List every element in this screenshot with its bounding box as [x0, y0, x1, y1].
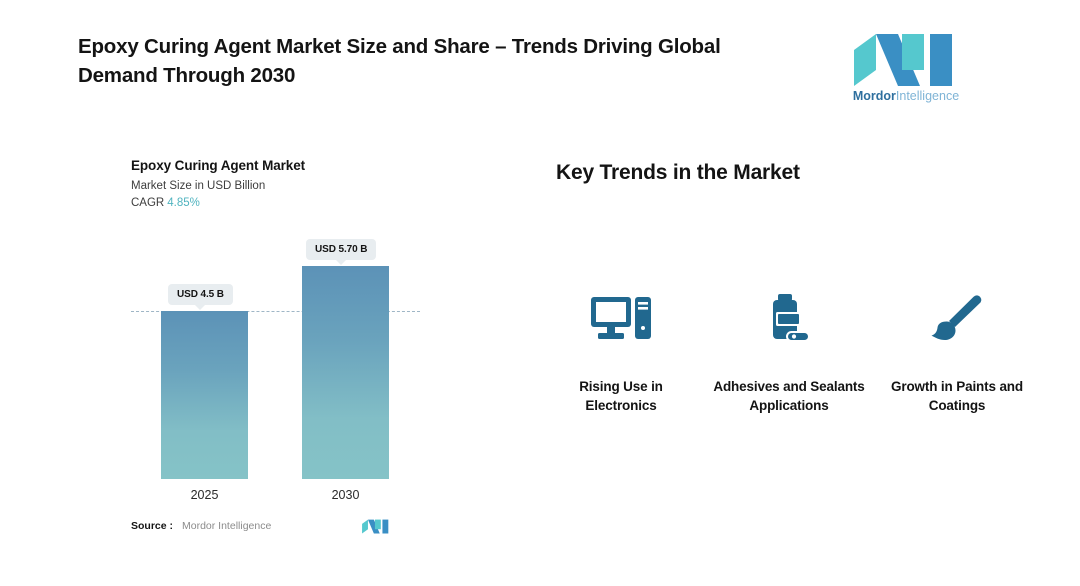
mordor-m-mark-icon [361, 516, 391, 536]
brand-name-light: Intelligence [896, 89, 959, 103]
trend-card-adhesives[interactable]: Adhesives and Sealants Applications [710, 290, 868, 415]
trend-label: Adhesives and Sealants Applications [710, 377, 868, 415]
source-label: Source : [131, 520, 173, 532]
source-row: Source : Mordor Intelligence [131, 516, 431, 540]
brand-logo: MordorIntelligence [847, 30, 965, 106]
page-title: Epoxy Curing Agent Market Size and Share… [78, 32, 778, 90]
chart-plot-area: USD 4.5 B USD 5.70 B 2025 2030 Source : … [131, 158, 431, 548]
trend-label: Growth in Paints and Coatings [878, 377, 1036, 415]
mordor-m-mark-icon [850, 30, 962, 86]
trends-heading: Key Trends in the Market [556, 161, 800, 185]
bar-2025[interactable] [161, 311, 248, 479]
trend-card-electronics[interactable]: Rising Use in Electronics [542, 290, 700, 415]
chart-panel: Epoxy Curing Agent Market Market Size in… [131, 158, 431, 548]
brand-wordmark: MordorIntelligence [847, 90, 965, 103]
brand-name-bold: Mordor [853, 89, 896, 103]
trend-card-paints[interactable]: Growth in Paints and Coatings [878, 290, 1036, 415]
trends-row: Rising Use in Electronics Adhesives and … [542, 290, 1036, 415]
adhesive-bottle-icon [764, 290, 814, 348]
trend-label: Rising Use in Electronics [542, 377, 700, 415]
desktop-computer-icon [590, 290, 652, 348]
bar-label-2030: USD 5.70 B [306, 239, 376, 260]
x-tick-2025: 2025 [161, 488, 248, 502]
paintbrush-icon [929, 290, 985, 348]
source-value: Mordor Intelligence [182, 520, 271, 532]
x-tick-2030: 2030 [302, 488, 389, 502]
bar-label-2025: USD 4.5 B [168, 284, 233, 305]
bar-2030[interactable] [302, 266, 389, 479]
